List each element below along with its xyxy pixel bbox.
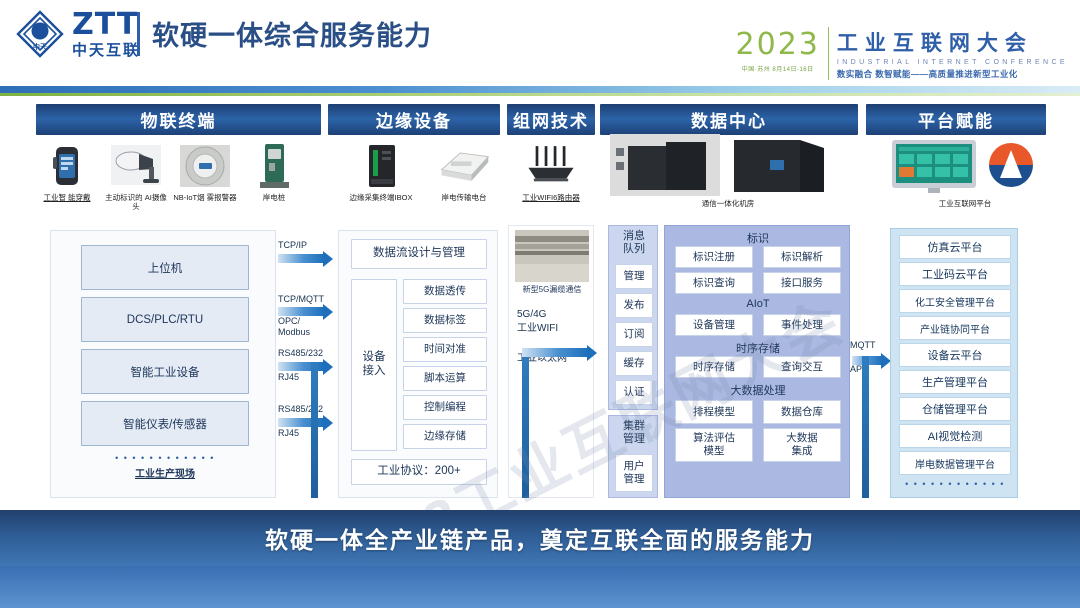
protocol-label-tcpmqtt: TCP/MQTT <box>278 294 324 305</box>
platform-item-simulation-cloud[interactable]: 仿真云平台 <box>899 235 1011 259</box>
industrial-platform-icon <box>886 138 1044 196</box>
mq-item-auth[interactable]: 认证 <box>615 380 653 405</box>
column-title-datacenter: 数据中心 <box>600 104 858 135</box>
protocol-label-rj45-2: RJ45 <box>278 428 299 439</box>
conference-year: 2023 <box>736 27 820 62</box>
product-shore-power-pile: 岸电桩 <box>241 142 307 202</box>
shore-power-pile-icon <box>246 142 302 190</box>
smoke-detector-icon <box>177 142 233 190</box>
product-label: 通信一体化机房 <box>702 199 755 208</box>
page-title: 软硬一体综合服务能力 <box>152 14 432 53</box>
mq-item-manage[interactable]: 管理 <box>615 264 653 289</box>
dc-item-ts-storage[interactable]: 时序存储 <box>675 356 753 378</box>
edge-top-box[interactable]: 数据流设计与管理 <box>351 239 487 269</box>
edge-device-access-box[interactable]: 设备 接入 <box>351 279 397 451</box>
edge-feature-edge-storage[interactable]: 边缘存储 <box>403 424 487 449</box>
edge-feature-data-tag[interactable]: 数据标签 <box>403 308 487 333</box>
product-label: 岸电桩 <box>263 193 286 202</box>
dc-item-bigdata-integration[interactable]: 大数据 集成 <box>763 428 841 462</box>
column-title-iot: 物联终端 <box>36 104 321 135</box>
header-rule-blue <box>0 86 1080 93</box>
group-title-bigdata: 大数据处理 <box>665 382 851 398</box>
dc-item-event-processing[interactable]: 事件处理 <box>763 314 841 336</box>
protocol-arrow-2 <box>278 307 324 316</box>
network-photo-caption: 新型5G漏缆通信 <box>511 284 593 295</box>
protocol-label-tcpip: TCP/IP <box>278 240 307 251</box>
protocol-label-rj45-1: RJ45 <box>278 372 299 383</box>
platform-item-device-cloud[interactable]: 设备云平台 <box>899 343 1011 367</box>
dc-item-device-management[interactable]: 设备管理 <box>675 314 753 336</box>
logo-ztt-text: ZTT <box>72 10 140 40</box>
edge-feature-script-compute[interactable]: 脚本运算 <box>403 366 487 391</box>
edge-feature-time-sync[interactable]: 时间对准 <box>403 337 487 362</box>
dc-item-scheduling-model[interactable]: 排程模型 <box>675 400 753 424</box>
ai-camera-icon <box>108 142 164 190</box>
datacenter-services-panel: 标识 标识注册 标识解析 标识查询 接口服务 AIoT 设备管理 事件处理 时序… <box>664 225 850 498</box>
product-label: 工业互联网平台 <box>939 199 992 208</box>
mq-item-publish[interactable]: 发布 <box>615 293 653 318</box>
product-label: 岸电传输电台 <box>442 193 487 202</box>
server-room-icon <box>610 134 846 196</box>
footer-banner: 软硬一体全产业链产品，奠定互联全面的服务能力 <box>0 510 1080 566</box>
dc-item-data-warehouse[interactable]: 数据仓库 <box>763 400 841 424</box>
product-smart-wearable: 工业智 能穿戴 <box>34 142 100 202</box>
logo-cn-text: 中天互联 <box>72 43 140 58</box>
network-to-datacenter-arrow <box>522 348 588 357</box>
protocol-label-opc-modbus: OPC/ Modbus <box>278 316 310 338</box>
edge-device-panel: 数据流设计与管理 设备 接入 数据透传 数据标签 时间对准 脚本运算 控制编程 … <box>338 230 498 498</box>
message-queue-panel: 消息 队列 管理 发布 订阅 缓存 认证 <box>608 225 658 410</box>
product-radio-transmitter: 岸电传输电台 <box>424 142 504 202</box>
dc-out-label-mqtt: MQTT <box>850 340 876 351</box>
group-title-aiot: AIoT <box>665 298 851 310</box>
edge-gateway-icon <box>353 142 409 190</box>
platform-item-chemical-safety[interactable]: 化工安全管理平台 <box>899 289 1011 313</box>
slide-root: 中天 ZTT 中天互联 软硬一体综合服务能力 2023 中国·苏州 8月14日-… <box>0 0 1080 608</box>
product-wifi6-router: 工业WIFI6路由器 <box>508 142 594 202</box>
conference-divider <box>828 27 829 80</box>
platform-dots: • • • • • • • • • • • • <box>899 479 1011 489</box>
radio-transmitter-icon <box>436 142 492 190</box>
site-item-instruments-sensors[interactable]: 智能仪表/传感器 <box>81 401 249 446</box>
platform-item-production-management[interactable]: 生产管理平台 <box>899 370 1011 394</box>
product-label: NB-IoT烟 雾报警器 <box>173 193 236 202</box>
platform-item-supply-chain[interactable]: 产业链协同平台 <box>899 316 1011 340</box>
dc-item-id-query[interactable]: 标识查询 <box>675 272 753 294</box>
product-label: 工业WIFI6路由器 <box>522 193 580 202</box>
mq-item-subscribe[interactable]: 订阅 <box>615 322 653 347</box>
platform-item-warehouse-management[interactable]: 仓储管理平台 <box>899 397 1011 421</box>
column-title-platform: 平台赋能 <box>866 104 1046 135</box>
column-title-edge: 边缘设备 <box>328 104 500 135</box>
dc-item-id-register[interactable]: 标识注册 <box>675 246 753 268</box>
edge-protocol-count[interactable]: 工业协议：200+ <box>351 459 487 485</box>
site-dots: • • • • • • • • • • • • <box>81 453 249 463</box>
site-item-dcs-plc-rtu[interactable]: DCS/PLC/RTU <box>81 297 249 342</box>
product-edge-ibox: 边缘采集终端IBOX <box>338 142 424 202</box>
dc-item-api-service[interactable]: 接口服务 <box>763 272 841 294</box>
platform-enablement-panel: 仿真云平台 工业码云平台 化工安全管理平台 产业链协同平台 设备云平台 生产管理… <box>890 228 1018 498</box>
mq-item-cache[interactable]: 缓存 <box>615 351 653 376</box>
protocol-label-rs485-1: RS485/232 <box>278 348 323 359</box>
conference-logo: 2023 中国·苏州 8月14日-16日 工业互联网大会 INDUSTRIAL … <box>736 27 1068 80</box>
network-tech-5g-wifi: 5G/4G 工业WIFI <box>517 308 558 335</box>
industrial-site-panel: 上位机 DCS/PLC/RTU 智能工业设备 智能仪表/传感器 • • • • … <box>50 230 276 498</box>
edge-feature-control-programming[interactable]: 控制编程 <box>403 395 487 420</box>
dc-item-id-resolve[interactable]: 标识解析 <box>763 246 841 268</box>
product-ai-camera: 主动标识的 AI摄像头 <box>103 142 169 212</box>
product-label: 主动标识的 AI摄像头 <box>103 193 169 212</box>
conference-slogan: 数实融合 数智赋能——高质量推进新型工业化 <box>837 68 1068 80</box>
platform-item-shore-power-data[interactable]: 岸电数据管理平台 <box>899 451 1011 475</box>
column-title-network: 组网技术 <box>507 104 595 135</box>
svg-text:中天: 中天 <box>33 42 48 51</box>
product-server-room: 通信一体化机房 <box>608 134 848 208</box>
cluster-title: 集群 管理 <box>609 420 659 446</box>
product-label: 工业智 能穿戴 <box>43 193 90 202</box>
header-divider <box>137 12 140 56</box>
site-label: 工业生产现场 <box>81 465 249 480</box>
site-item-upper-computer[interactable]: 上位机 <box>81 245 249 290</box>
group-title-identification: 标识 <box>665 230 851 246</box>
ztt-logo: 中天 ZTT 中天互联 <box>14 8 140 60</box>
product-industrial-platform: 工业互联网平台 <box>885 138 1045 208</box>
header-rule-green <box>0 93 1080 96</box>
conference-name-en: INDUSTRIAL INTERNET CONFERENCE <box>837 59 1068 66</box>
site-trunk-line <box>311 362 318 498</box>
platform-item-industrial-code-cloud[interactable]: 工业码云平台 <box>899 262 1011 286</box>
conference-date: 中国·苏州 8月14日-16日 <box>742 64 814 73</box>
group-title-timeseries: 时序存储 <box>665 340 851 356</box>
product-smoke-detector: NB-IoT烟 雾报警器 <box>172 142 238 202</box>
message-queue-title: 消息 队列 <box>609 230 659 256</box>
cluster-management-panel: 集群 管理 用户 管理 <box>608 415 658 498</box>
fiber-5g-photo-icon <box>515 230 589 282</box>
product-label: 边缘采集终端IBOX <box>350 193 413 202</box>
cluster-item-user-management[interactable]: 用户 管理 <box>615 454 653 492</box>
dc-item-algorithm-eval-model[interactable]: 算法评估 模型 <box>675 428 753 462</box>
edge-feature-data-transparent[interactable]: 数据透传 <box>403 279 487 304</box>
site-item-smart-equipment[interactable]: 智能工业设备 <box>81 349 249 394</box>
wifi6-router-icon <box>523 142 579 190</box>
smart-wearable-icon <box>39 142 95 190</box>
protocol-arrow-1 <box>278 254 324 263</box>
dc-item-query-interaction[interactable]: 查询交互 <box>763 356 841 378</box>
network-trunk-line <box>522 348 529 498</box>
ztt-diamond-icon: 中天 <box>14 8 66 60</box>
conference-name-cn: 工业互联网大会 <box>837 27 1068 57</box>
network-tech-panel: 新型5G漏缆通信 5G/4G 工业WIFI 工业以太网 <box>508 225 594 498</box>
slide-header: 中天 ZTT 中天互联 软硬一体综合服务能力 2023 中国·苏州 8月14日-… <box>0 0 1080 92</box>
footer-banner-text: 软硬一体全产业链产品，奠定互联全面的服务能力 <box>265 521 815 555</box>
platform-item-ai-vision[interactable]: AI视觉检测 <box>899 424 1011 448</box>
dc-trunk-line <box>862 356 869 498</box>
